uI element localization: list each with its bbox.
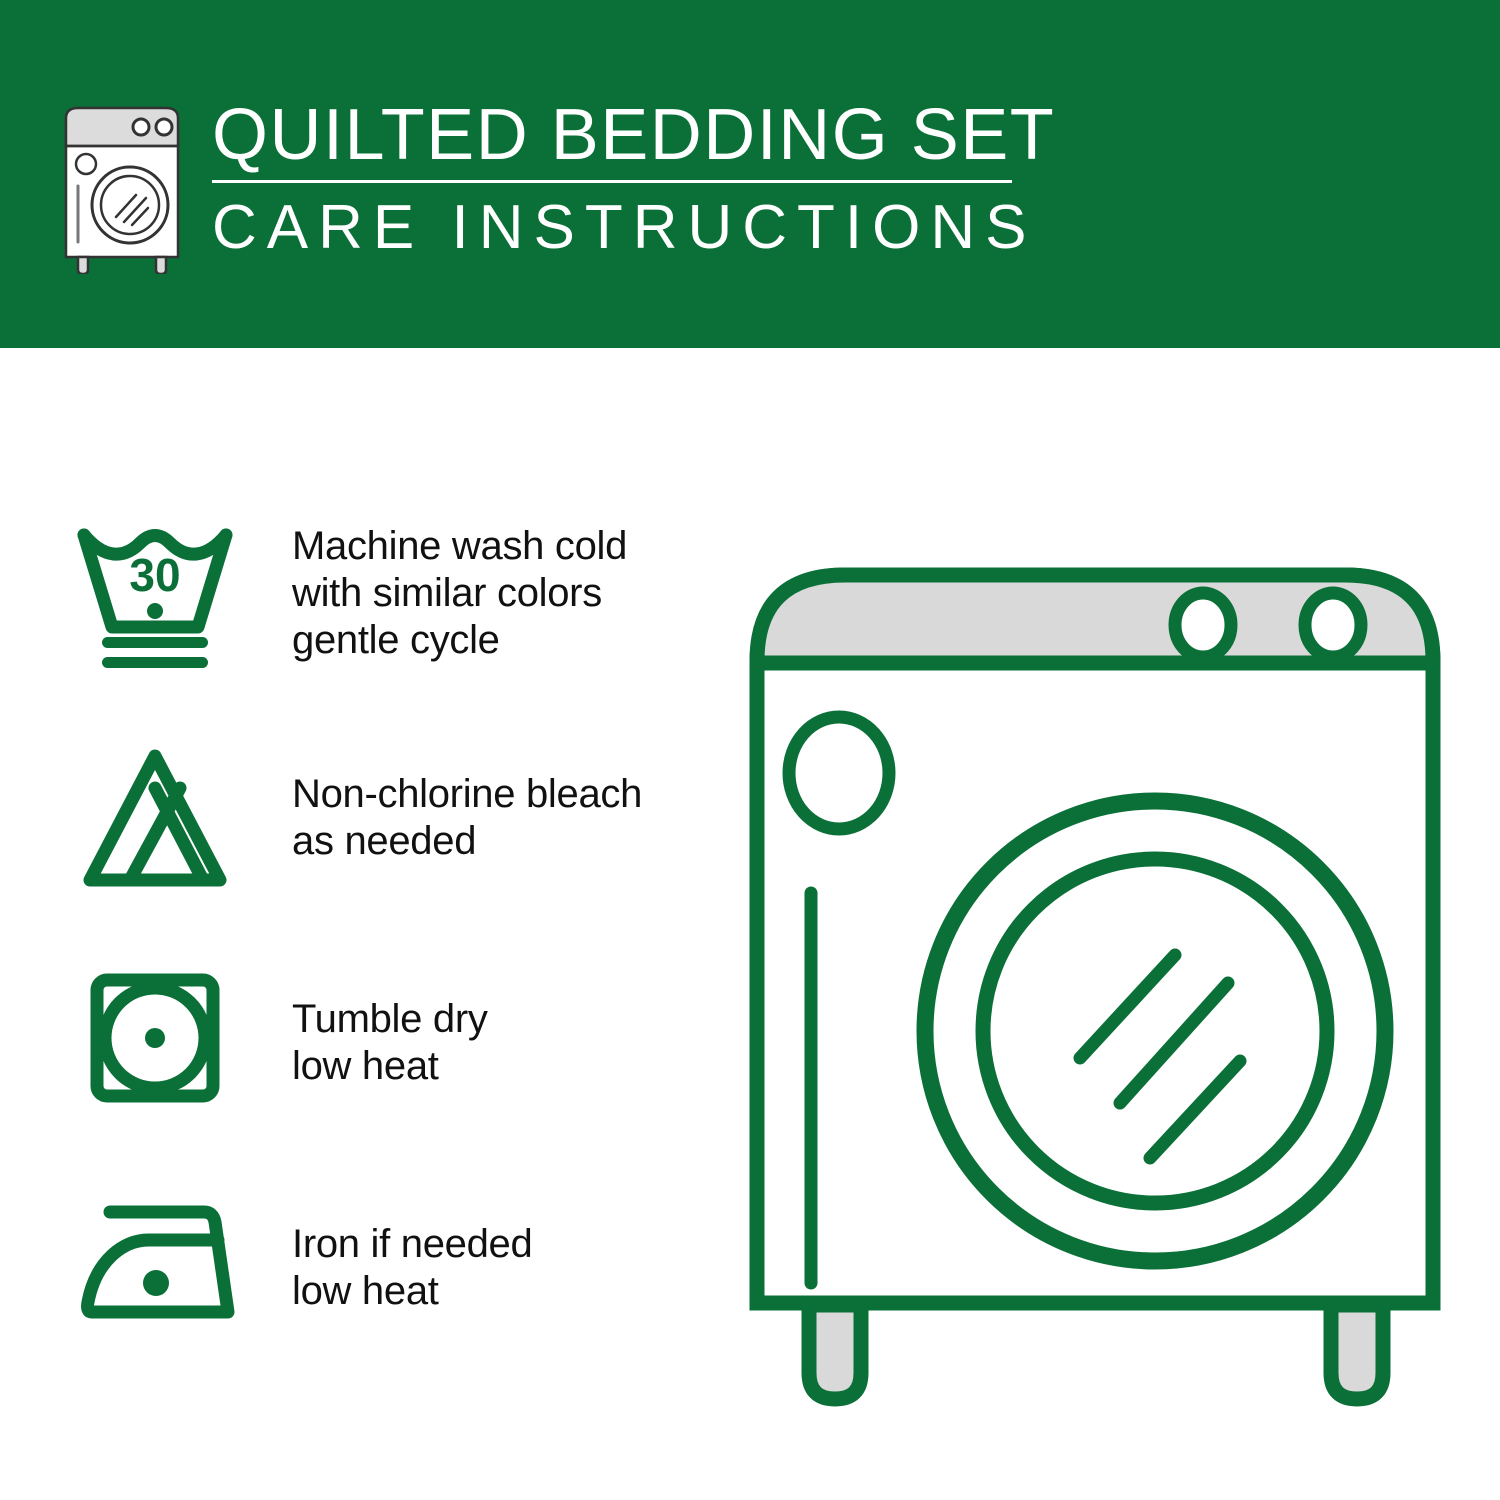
washing-machine-illustration: [735, 493, 1455, 1433]
list-item: Tumble dry low heat: [70, 958, 710, 1128]
instruction-line: gentle cycle: [292, 617, 627, 664]
bleach-triangle-icon: [70, 733, 240, 903]
iron-icon: [70, 1183, 240, 1353]
knob-right: [1305, 593, 1361, 657]
instruction-line: with similar colors: [292, 570, 627, 617]
header-divider: [212, 180, 1012, 183]
instruction-line: as needed: [292, 818, 642, 865]
detergent-dispenser: [789, 717, 889, 829]
list-item: Non-chlorine bleach as needed: [70, 733, 710, 903]
instruction-text: Machine wash cold with similar colors ge…: [292, 523, 627, 664]
knob-left: [1175, 593, 1231, 657]
tumble-dry-icon: [70, 958, 240, 1128]
header-banner: QUILTED BEDDING SET CARE INSTRUCTIONS: [0, 0, 1500, 348]
instruction-line: low heat: [292, 1043, 488, 1090]
instruction-line: Iron if needed: [292, 1221, 532, 1268]
instruction-line: Machine wash cold: [292, 523, 627, 570]
wash-temperature-label: 30: [129, 549, 180, 601]
instruction-line: low heat: [292, 1268, 532, 1315]
leg-left: [809, 1305, 861, 1399]
page-title: QUILTED BEDDING SET: [212, 96, 1055, 174]
washing-machine-icon: [58, 102, 190, 274]
body-area: 30 Machine wash cold with similar colors…: [0, 348, 1500, 1500]
wash-tub-icon: 30: [70, 508, 240, 678]
header-text-block: QUILTED BEDDING SET CARE INSTRUCTIONS: [212, 96, 1055, 263]
instruction-line: Tumble dry: [292, 996, 488, 1043]
leg-right: [1331, 1305, 1383, 1399]
header-content: QUILTED BEDDING SET CARE INSTRUCTIONS: [58, 96, 1055, 274]
instruction-text: Iron if needed low heat: [292, 1221, 532, 1315]
instruction-text: Non-chlorine bleach as needed: [292, 771, 642, 865]
page-subtitle: CARE INSTRUCTIONS: [212, 193, 1055, 263]
care-instruction-list: 30 Machine wash cold with similar colors…: [70, 508, 710, 1353]
instruction-text: Tumble dry low heat: [292, 996, 488, 1090]
list-item: Iron if needed low heat: [70, 1183, 710, 1353]
list-item: 30 Machine wash cold with similar colors…: [70, 508, 710, 678]
instruction-line: Non-chlorine bleach: [292, 771, 642, 818]
